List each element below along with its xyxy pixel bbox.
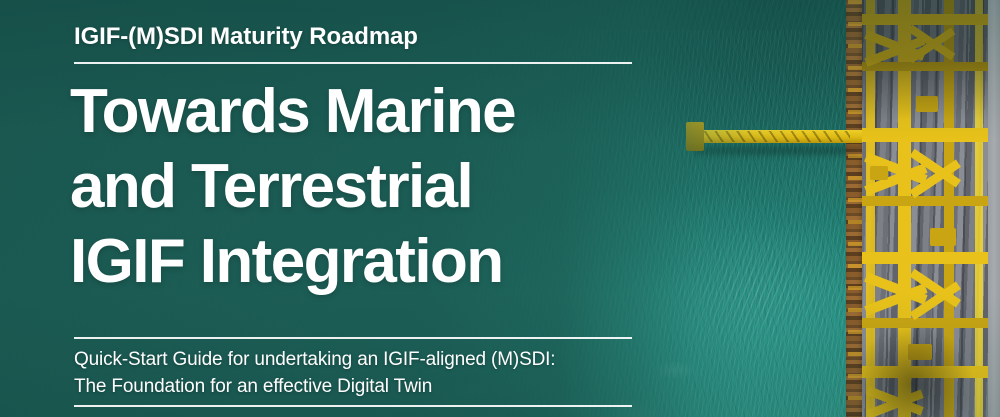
eyebrow-title: IGIF-(M)SDI Maturity Roadmap bbox=[74, 24, 418, 50]
divider-rule-top bbox=[74, 62, 632, 64]
page-title-line-1: Towards Marine bbox=[70, 74, 640, 149]
page-title-line-3: IGIF Integration bbox=[70, 224, 640, 299]
page-subtitle-line-1: Quick-Start Guide for undertaking an IGI… bbox=[74, 346, 644, 373]
page-title: Towards Marine and Terrestrial IGIF Inte… bbox=[70, 74, 640, 299]
page-subtitle: Quick-Start Guide for undertaking an IGI… bbox=[74, 346, 644, 400]
page-title-line-2: and Terrestrial bbox=[70, 149, 640, 224]
page-subtitle-line-2: The Foundation for an effective Digital … bbox=[74, 373, 644, 400]
cover-banner: IGIF-(M)SDI Maturity Roadmap Towards Mar… bbox=[0, 0, 1000, 417]
divider-rule-middle bbox=[74, 337, 632, 339]
cover-text-block: IGIF-(M)SDI Maturity Roadmap Towards Mar… bbox=[74, 0, 634, 417]
divider-rule-bottom bbox=[74, 405, 632, 407]
